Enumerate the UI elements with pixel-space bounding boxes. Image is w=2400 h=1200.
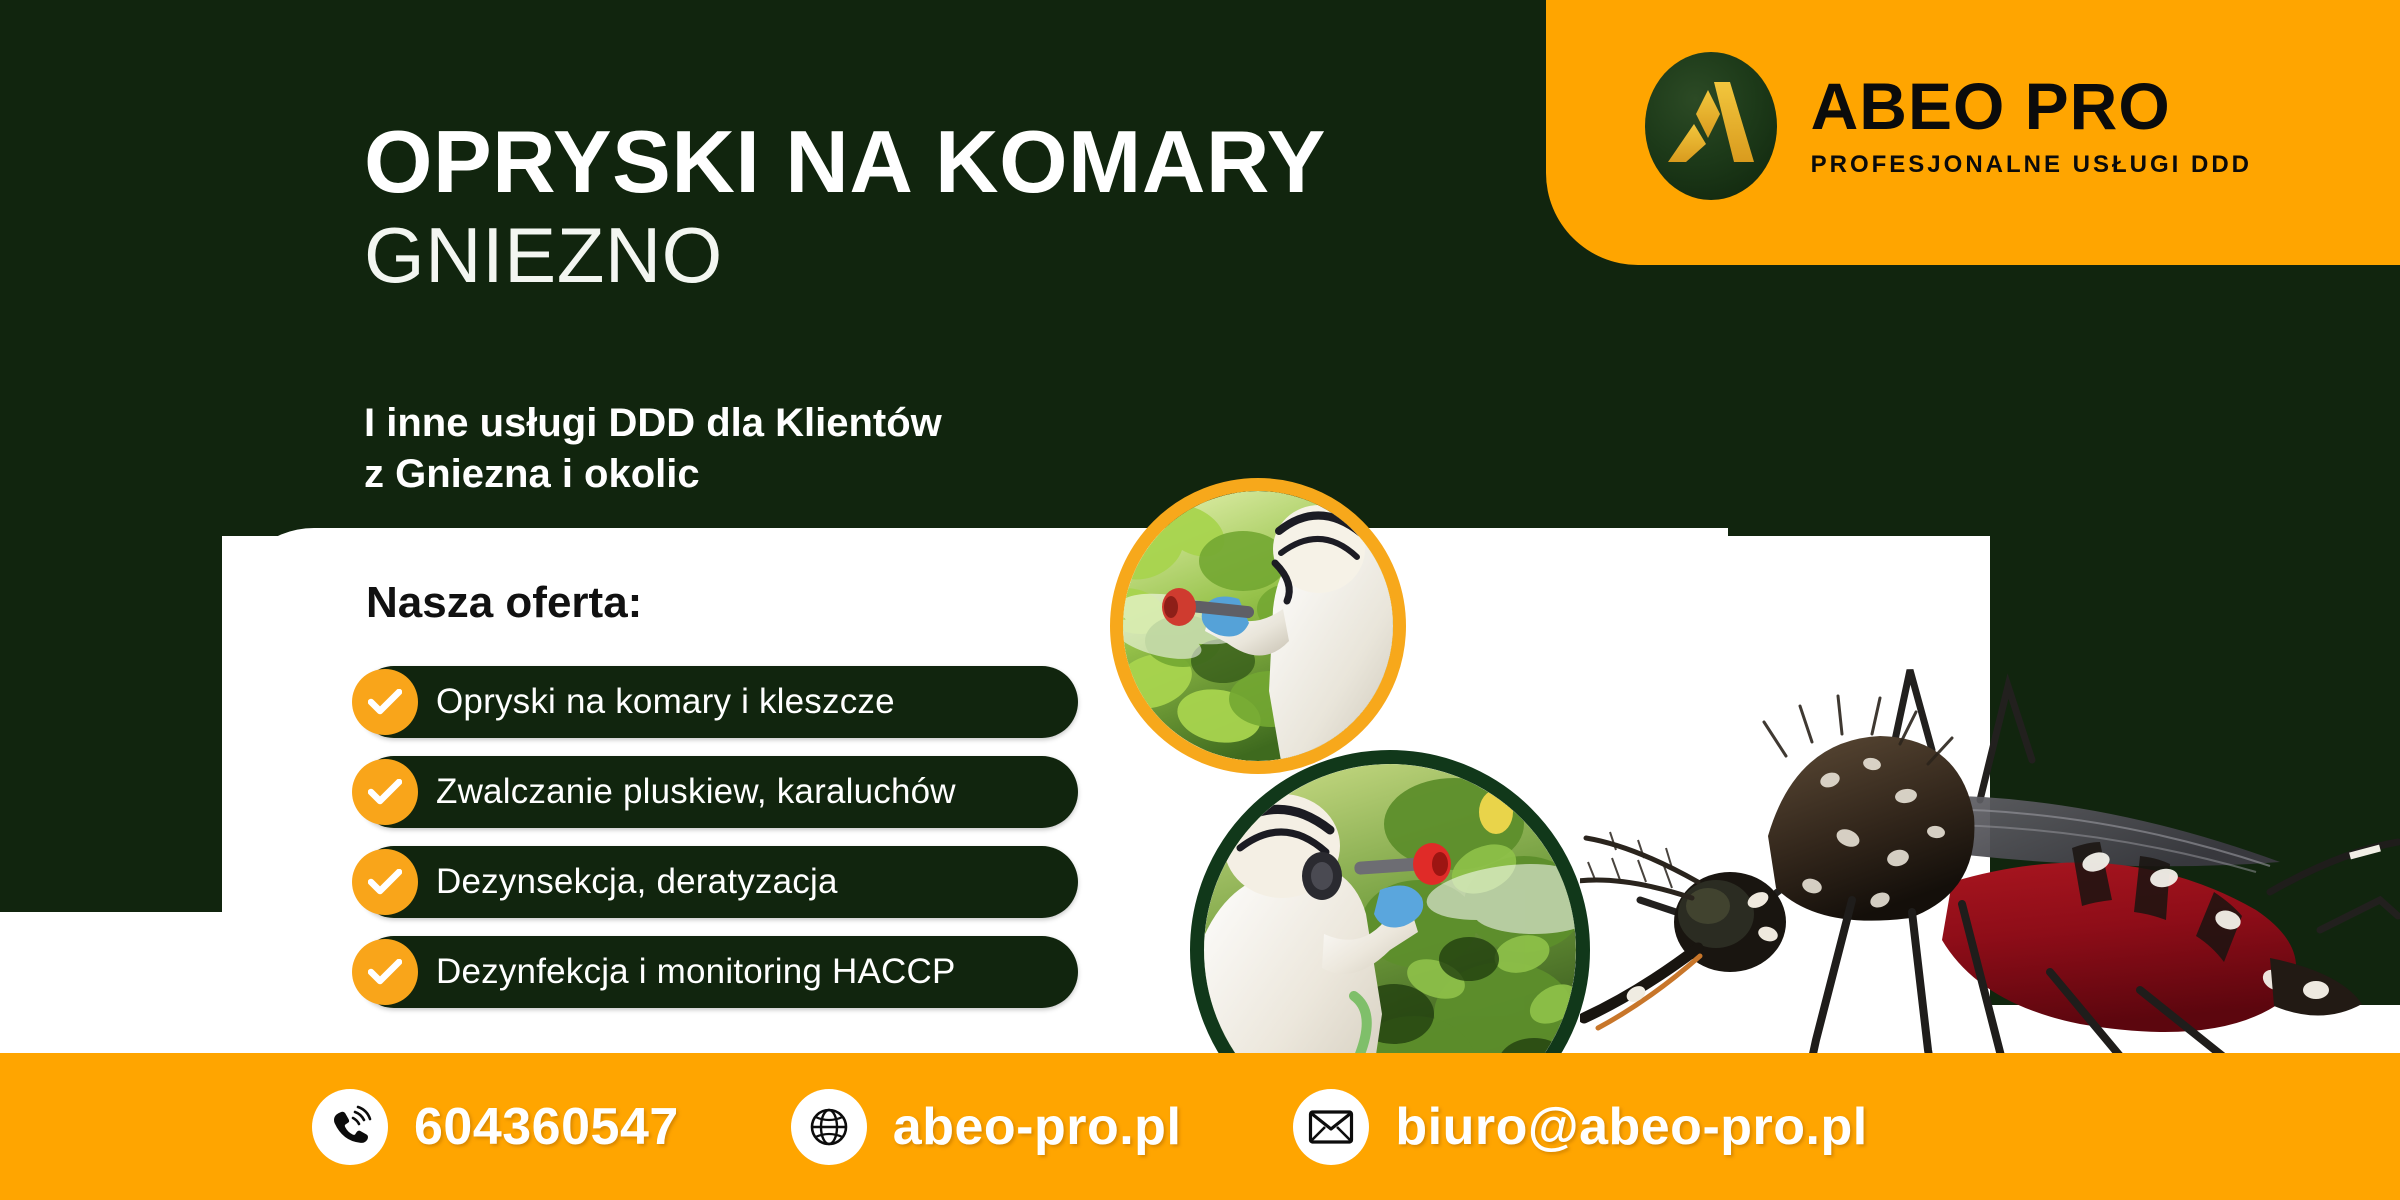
check-icon	[352, 849, 418, 915]
list-item[interactable]: Dezynfekcja i monitoring HACCP	[358, 936, 1078, 1008]
contact-phone[interactable]: 604360547	[312, 1089, 679, 1165]
promo-banner: OPRYSKI NA KOMARY GNIEZNO I inne usługi …	[0, 0, 2400, 1200]
check-icon	[352, 939, 418, 1005]
brand-text-block: ABEO PRO PROFESJONALNE USŁUGI DDD	[1811, 73, 2252, 179]
brand-name: ABEO PRO	[1811, 73, 2171, 139]
brand-logo-lockup[interactable]: ABEO PRO PROFESJONALNE USŁUGI DDD	[1645, 52, 2252, 200]
contact-email-value: biuro@abeo-pro.pl	[1395, 1097, 1867, 1157]
hero-subheadline: I inne usługi DDD dla Klientów z Gniezna…	[364, 398, 942, 500]
photo-inner	[1123, 491, 1393, 761]
contact-phone-value: 604360547	[414, 1097, 679, 1157]
list-item-label: Zwalczanie pluskiew, karaluchów	[436, 772, 956, 812]
worker-spraying-foliage-photo	[1110, 478, 1406, 774]
contact-website[interactable]: abeo-pro.pl	[791, 1089, 1182, 1165]
contact-list: 604360547 abeo-pro.pl	[0, 1053, 2400, 1200]
list-item-label: Dezynsekcja, deratyzacja	[436, 862, 838, 902]
list-item[interactable]: Opryski na komary i kleszcze	[358, 666, 1078, 738]
offer-section-title: Nasza oferta:	[366, 578, 642, 628]
check-icon	[352, 669, 418, 735]
hero-headline: OPRYSKI NA KOMARY GNIEZNO	[364, 118, 1564, 299]
globe-icon	[791, 1089, 867, 1165]
list-item[interactable]: Dezynsekcja, deratyzacja	[358, 846, 1078, 918]
list-item[interactable]: Zwalczanie pluskiew, karaluchów	[358, 756, 1078, 828]
headline-primary: OPRYSKI NA KOMARY	[364, 118, 1564, 206]
phone-icon	[312, 1089, 388, 1165]
brand-tagline: PROFESJONALNE USŁUGI DDD	[1811, 151, 2252, 179]
headline-secondary: GNIEZNO	[364, 212, 1564, 299]
list-item-label: Opryski na komary i kleszcze	[436, 682, 895, 722]
list-item-label: Dezynfekcja i monitoring HACCP	[436, 952, 956, 992]
check-icon	[352, 759, 418, 825]
offer-list: Opryski na komary i kleszcze Zwalczanie …	[358, 666, 1078, 1008]
subheadline-line-1: I inne usługi DDD dla Klientów	[364, 398, 942, 449]
contact-website-value: abeo-pro.pl	[893, 1097, 1182, 1157]
envelope-icon	[1293, 1089, 1369, 1165]
background-green-left-panel	[0, 500, 222, 912]
subheadline-line-2: z Gniezna i okolic	[364, 449, 942, 500]
abeo-a-mountain-icon	[1645, 52, 1777, 200]
contact-email[interactable]: biuro@abeo-pro.pl	[1293, 1089, 1867, 1165]
